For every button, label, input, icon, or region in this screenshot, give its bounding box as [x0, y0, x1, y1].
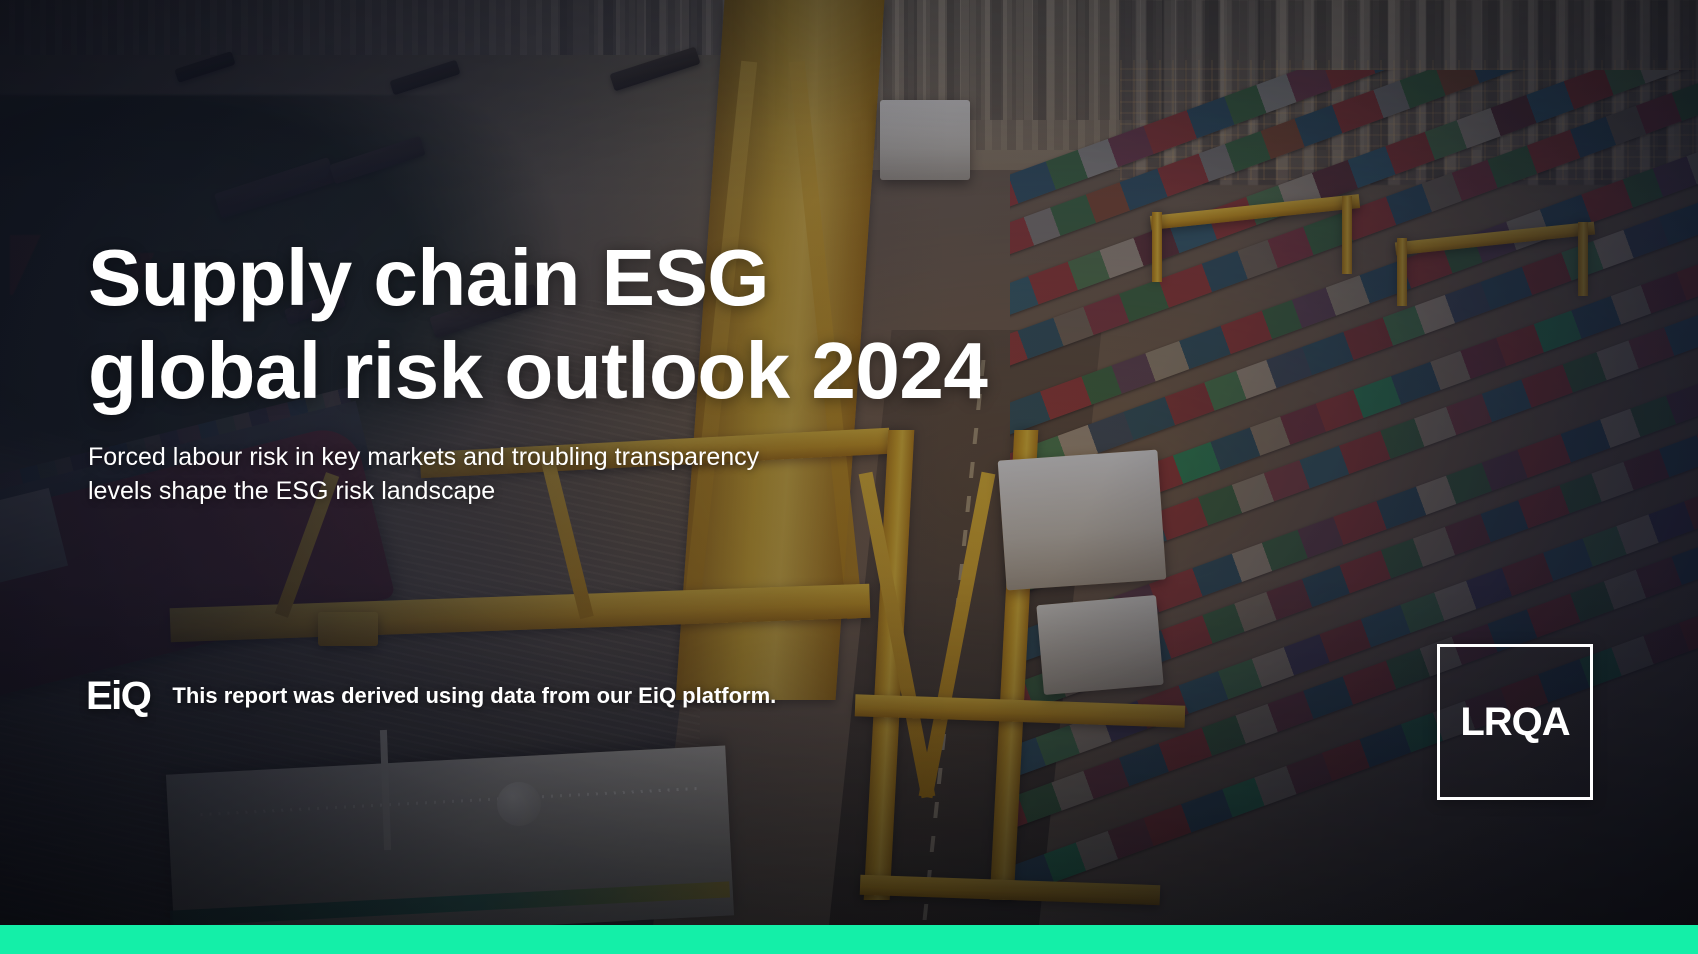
cover-content: Supply chain ESG global risk outlook 202… [0, 0, 1698, 954]
page-subtitle: Forced labour risk in key markets and tr… [88, 440, 888, 508]
report-cover-page: Supply chain ESG global risk outlook 202… [0, 0, 1698, 954]
eiq-logo: EiQ [86, 676, 150, 716]
accent-bar-bottom [0, 925, 1698, 954]
platform-attribution-text: This report was derived using data from … [172, 683, 776, 709]
lrqa-logo-box: LRQA [1437, 644, 1593, 800]
lrqa-logo: LRQA [1460, 702, 1569, 742]
platform-attribution: EiQ This report was derived using data f… [86, 676, 776, 716]
page-title: Supply chain ESG global risk outlook 202… [88, 232, 1088, 418]
